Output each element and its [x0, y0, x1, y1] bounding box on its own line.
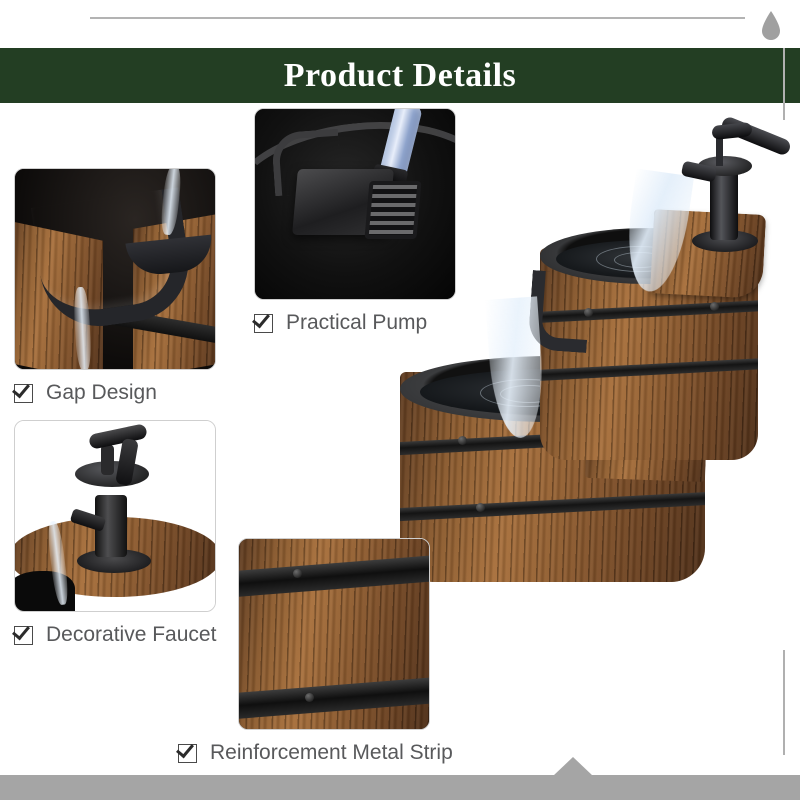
feature-label: Decorative Faucet [46, 623, 216, 647]
feature-image-decorative-faucet [14, 420, 216, 612]
feature-caption-practical-pump: Practical Pump [254, 311, 456, 335]
feature-label: Practical Pump [286, 311, 427, 335]
feature-card-decorative-faucet[interactable]: Decorative Faucet [14, 420, 216, 647]
feature-label: Reinforcement Metal Strip [210, 741, 453, 765]
faucet-neck [101, 445, 114, 475]
footer-notch-triangle [553, 757, 593, 776]
decorative-faucet-artwork [15, 421, 215, 611]
checkbox-checked-icon [14, 626, 33, 645]
checkbox-checked-icon [14, 384, 33, 403]
top-divider-rule [90, 17, 745, 19]
barrel-band [400, 491, 705, 522]
pump-rod [716, 138, 723, 166]
feature-image-metal-strip [238, 538, 430, 730]
band-screw [710, 302, 719, 311]
feature-card-practical-pump[interactable]: Practical Pump [254, 108, 456, 335]
checkbox-checked-icon [254, 314, 273, 333]
band-screw [305, 693, 314, 702]
band-screw [476, 503, 485, 512]
practical-pump-artwork [255, 109, 455, 299]
pump-intake-grille [364, 181, 421, 239]
section-banner: Product Details [0, 48, 800, 103]
product-details-page: Product Details [0, 0, 800, 800]
barrel-band [540, 358, 758, 382]
feature-caption-metal-strip: Reinforcement Metal Strip [178, 741, 453, 765]
feature-caption-gap-design: Gap Design [14, 381, 216, 405]
footer-bar [0, 775, 800, 800]
feature-card-gap-design[interactable]: Gap Design [14, 168, 216, 405]
gap-design-artwork [15, 169, 215, 369]
feature-image-practical-pump [254, 108, 456, 300]
metal-strip-artwork [239, 539, 429, 729]
feature-label: Gap Design [46, 381, 157, 405]
band-screw [458, 436, 467, 445]
water-drop-icon [760, 10, 782, 42]
feature-caption-decorative-faucet: Decorative Faucet [14, 623, 216, 647]
feature-image-gap-design [14, 168, 216, 370]
page-title: Product Details [284, 59, 517, 93]
cast-iron-hand-pump [676, 120, 796, 270]
feature-card-metal-strip[interactable]: Reinforcement Metal Strip [238, 538, 453, 765]
band-screw [293, 569, 302, 578]
checkbox-checked-icon [178, 744, 197, 763]
